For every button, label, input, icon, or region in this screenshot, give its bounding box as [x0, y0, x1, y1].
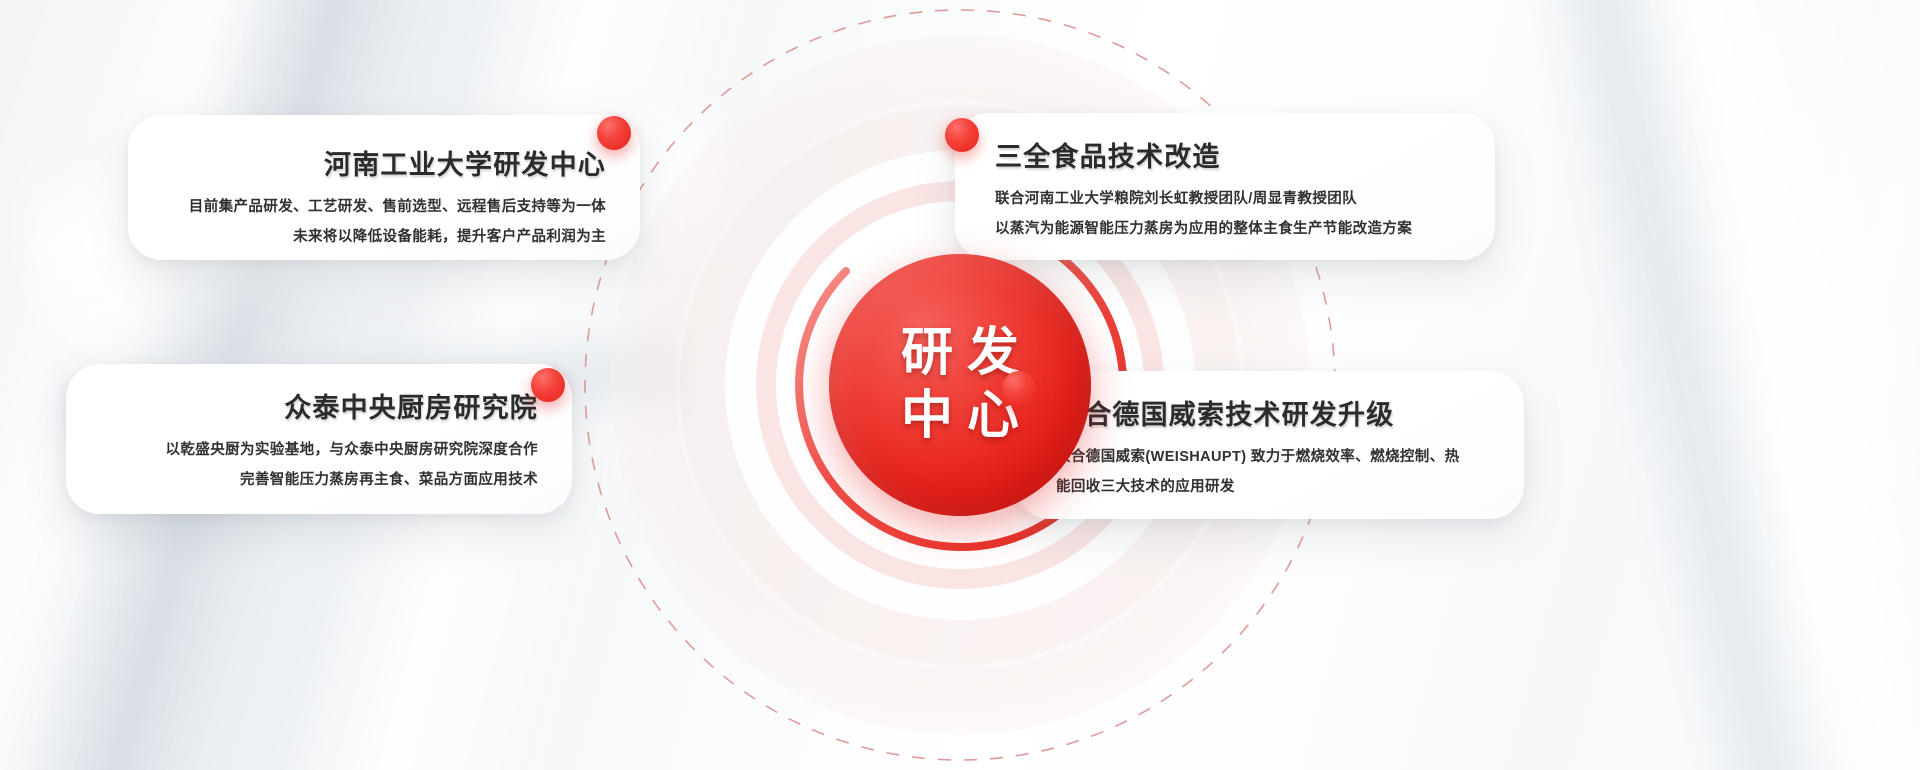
card-body: 联合德国威索(WEISHAUPT) 致力于燃烧效率、燃烧控制、热 能回收三大技术… [1056, 446, 1494, 499]
card-zhongtai-central-kitchen-institute[interactable]: 众泰中央厨房研究院 以乾盛央厨为实验基地，与众泰中央厨房研究院深度合作 完善智能… [66, 364, 572, 514]
card-marker-dot-icon [945, 118, 979, 152]
card-line: 联合河南工业大学粮院刘长虹教授团队/周显青教授团队 [995, 188, 1465, 210]
card-line: 完善智能压力蒸房再主食、菜品方面应用技术 [100, 469, 538, 491]
card-title: 众泰中央厨房研究院 [100, 386, 538, 425]
card-marker-dot-icon [597, 116, 631, 150]
card-title: 三全食品技术改造 [995, 135, 1465, 174]
card-line: 未来将以降低设备能耗，提升客户产品利润为主 [162, 226, 606, 248]
card-henan-university-rd-center[interactable]: 河南工业大学研发中心 目前集产品研发、工艺研发、售前选型、远程售后支持等为一体 … [128, 115, 640, 260]
card-body: 以乾盛央厨为实验基地，与众泰中央厨房研究院深度合作 完善智能压力蒸房再主食、菜品… [100, 439, 538, 492]
card-title: 河南工业大学研发中心 [162, 143, 606, 182]
card-line: 以蒸汽为能源智能压力蒸房为应用的整体主食生产节能改造方案 [995, 218, 1465, 240]
card-line: 目前集产品研发、工艺研发、售前选型、远程售后支持等为一体 [162, 196, 606, 218]
card-line: 以乾盛央厨为实验基地，与众泰中央厨房研究院深度合作 [100, 439, 538, 461]
card-sanquan-food-tech-upgrade[interactable]: 三全食品技术改造 联合河南工业大学粮院刘长虹教授团队/周显青教授团队 以蒸汽为能… [955, 113, 1495, 260]
card-marker-dot-icon [1002, 371, 1036, 405]
card-line: 能回收三大技术的应用研发 [1056, 476, 1494, 498]
line-spacer [100, 461, 538, 469]
card-marker-dot-icon [531, 368, 565, 402]
background-streak [1507, 0, 1882, 770]
card-title: 联合德国威索技术研发升级 [1056, 393, 1494, 432]
card-body: 目前集产品研发、工艺研发、售前选型、远程售后支持等为一体 未来将以降低设备能耗，… [162, 196, 606, 249]
card-body: 联合河南工业大学粮院刘长虹教授团队/周显青教授团队 以蒸汽为能源智能压力蒸房为应… [995, 188, 1465, 241]
line-spacer [995, 210, 1465, 218]
line-spacer [162, 218, 606, 226]
card-line: 联合德国威索(WEISHAUPT) 致力于燃烧效率、燃烧控制、热 [1056, 446, 1494, 468]
card-weishaupt-joint-rd-upgrade[interactable]: 联合德国威索技术研发升级 联合德国威索(WEISHAUPT) 致力于燃烧效率、燃… [1016, 371, 1524, 519]
background-streak [1500, 0, 1920, 770]
line-spacer [1056, 468, 1494, 476]
infographic-canvas: 研发 中心 河南工业大学研发中心 目前集产品研发、工艺研发、售前选型、远程售后支… [0, 0, 1920, 770]
center-core-badge: 研发 中心 [829, 254, 1091, 516]
